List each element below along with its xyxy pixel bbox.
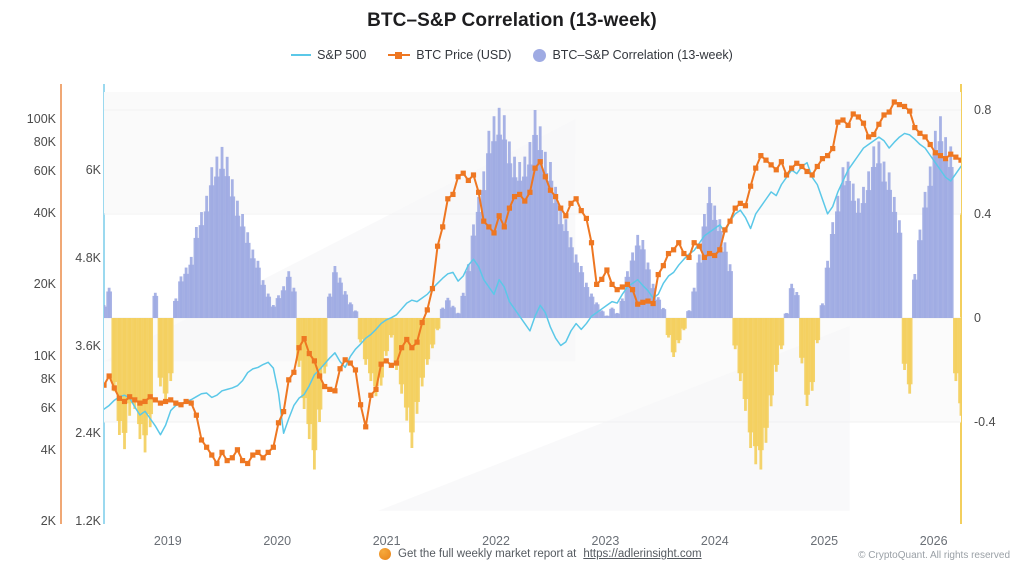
- btc-price-marker: [235, 447, 240, 452]
- btc-price-marker: [435, 244, 440, 249]
- btc-price-marker: [661, 263, 666, 268]
- btc-price-marker: [568, 201, 573, 206]
- legend-label-snp: S&P 500: [317, 48, 366, 62]
- btc-price-marker: [876, 122, 881, 127]
- correlation-bar: [797, 295, 800, 318]
- btc-price-marker: [820, 156, 825, 161]
- btc-price-marker: [835, 120, 840, 125]
- btc-price-marker: [420, 320, 425, 325]
- btc-price-marker: [589, 240, 594, 245]
- snp-tick-label: 3.6K: [75, 339, 101, 353]
- btc-price-marker: [225, 458, 230, 463]
- correlation-bar: [684, 318, 687, 329]
- btc-price-marker: [846, 123, 851, 128]
- btc-price-marker: [343, 357, 348, 362]
- btc-price-marker: [671, 247, 676, 252]
- btc-tick-label: 4K: [41, 443, 56, 457]
- btc-price-marker: [368, 393, 373, 398]
- btc-price-marker: [917, 131, 922, 136]
- correlation-bar: [899, 233, 902, 318]
- promo-link[interactable]: https://adlerinsight.com: [583, 548, 701, 560]
- btc-price-marker: [163, 399, 168, 404]
- btc-price-marker: [871, 132, 876, 137]
- btc-price-marker: [266, 450, 271, 455]
- btc-price-marker: [615, 287, 620, 292]
- x-axis-tick-label: 2020: [263, 534, 291, 548]
- btc-price-marker: [830, 146, 835, 151]
- cor-tick-label: -0.4: [974, 415, 996, 429]
- btc-price-marker: [953, 155, 958, 160]
- btc-price-marker: [789, 166, 794, 171]
- btc-price-marker: [922, 134, 927, 139]
- btc-price-marker: [948, 152, 953, 157]
- btc-price-marker: [276, 420, 281, 425]
- cor-tick-label: 0.8: [974, 103, 991, 117]
- btc-price-marker: [112, 385, 117, 390]
- btc-price-marker: [640, 300, 645, 305]
- snp-tick-label: 1.2K: [75, 514, 101, 528]
- btc-price-marker: [712, 253, 717, 258]
- btc-price-marker: [476, 190, 481, 195]
- btc-tick-label: 2K: [41, 514, 56, 528]
- btc-price-marker: [307, 351, 312, 356]
- btc-price-marker: [635, 302, 640, 307]
- btc-price-marker: [753, 166, 758, 171]
- snp-axis-ticks: 6K4.8K3.6K2.4K1.2K: [63, 0, 101, 576]
- correlation-bar: [294, 291, 297, 318]
- btc-price-marker: [127, 394, 132, 399]
- correlation-bar: [951, 167, 954, 318]
- btc-price-marker: [240, 458, 245, 463]
- x-axis-tick-label: 2021: [373, 534, 401, 548]
- btc-price-marker: [522, 198, 527, 203]
- btc-price-marker: [209, 452, 214, 457]
- btc-price-marker: [481, 219, 486, 224]
- cor-tick-label: 0: [974, 311, 981, 325]
- btc-price-marker: [799, 164, 804, 169]
- btc-price-marker: [230, 455, 235, 460]
- btc-tick-label: 80K: [34, 135, 56, 149]
- btc-price-marker: [604, 267, 609, 272]
- btc-price-marker: [656, 272, 661, 277]
- btc-price-marker: [666, 251, 671, 256]
- btc-price-marker: [389, 363, 394, 368]
- btc-price-marker: [810, 172, 815, 177]
- btc-price-marker: [943, 156, 948, 161]
- btc-price-marker: [815, 164, 820, 169]
- btc-price-marker: [148, 394, 153, 399]
- btc-price-marker: [184, 399, 189, 404]
- btc-price-marker: [748, 184, 753, 189]
- legend-item-snp[interactable]: S&P 500: [291, 48, 366, 62]
- btc-price-marker: [722, 227, 727, 232]
- btc-tick-label: 8K: [41, 372, 56, 386]
- x-axis-tick-label: 2023: [592, 534, 620, 548]
- btc-price-marker: [117, 396, 122, 401]
- btc-price-marker: [558, 206, 563, 211]
- btc-price-marker: [466, 178, 471, 183]
- btc-price-marker: [337, 366, 342, 371]
- line-square-marker-icon: [388, 50, 410, 60]
- promo-text: Get the full weekly market report at htt…: [379, 548, 702, 560]
- btc-price-marker: [399, 345, 404, 350]
- btc-price-marker: [738, 201, 743, 206]
- x-axis-tick-label: 2024: [701, 534, 729, 548]
- btc-price-marker: [461, 171, 466, 176]
- btc-price-marker: [379, 362, 384, 367]
- chart-container: BTC–S&P Correlation (13-week) S&P 500 BT…: [0, 0, 1024, 576]
- x-axis-tick-label: 2019: [154, 534, 182, 548]
- btc-price-marker: [204, 445, 209, 450]
- btc-price-marker: [168, 397, 173, 402]
- legend-label-correlation: BTC–S&P Correlation (13-week): [552, 48, 732, 62]
- chart-svg: [104, 84, 961, 524]
- btc-price-marker: [584, 216, 589, 221]
- btc-price-marker: [194, 413, 199, 418]
- correlation-bar: [150, 318, 153, 414]
- btc-price-marker: [425, 307, 430, 312]
- btc-price-marker: [938, 153, 943, 158]
- btc-price-marker: [507, 206, 512, 211]
- btc-price-marker: [302, 336, 307, 341]
- btc-price-marker: [122, 399, 127, 404]
- correlation-bar: [355, 311, 358, 318]
- btc-price-marker: [430, 286, 435, 291]
- correlation-bar: [663, 309, 666, 318]
- x-axis-tick-label: 2022: [482, 534, 510, 548]
- btc-price-marker: [676, 240, 681, 245]
- btc-price-marker: [281, 409, 286, 414]
- legend-label-btc: BTC Price (USD): [416, 48, 511, 62]
- btc-price-marker: [189, 400, 194, 405]
- btc-price-marker: [512, 194, 517, 199]
- btc-price-marker: [861, 121, 866, 126]
- btc-price-marker: [553, 194, 558, 199]
- correlation-bar: [438, 318, 441, 329]
- snp-tick-label: 2.4K: [75, 426, 101, 440]
- btc-price-marker: [296, 345, 301, 350]
- btc-price-marker: [178, 402, 183, 407]
- btc-tick-label: 10K: [34, 349, 56, 363]
- btc-price-marker: [579, 208, 584, 213]
- btc-price-marker: [471, 172, 476, 177]
- correlation-bar: [730, 271, 733, 318]
- btc-price-marker: [702, 255, 707, 260]
- btc-price-marker: [840, 117, 845, 122]
- btc-axis-ticks: 100K80K60K40K20K10K8K6K4K2K: [0, 0, 56, 576]
- btc-price-marker: [219, 450, 224, 455]
- btc-tick-label: 100K: [27, 112, 56, 126]
- btc-price-marker: [599, 277, 604, 282]
- legend-item-btc[interactable]: BTC Price (USD): [388, 48, 511, 62]
- btc-price-marker: [958, 158, 961, 163]
- btc-price-marker: [733, 206, 738, 211]
- circle-marker-icon: [533, 49, 546, 62]
- correlation-axis-ticks: 0.80.40-0.4: [968, 0, 1024, 576]
- x-axis-tick-label: 2025: [810, 534, 838, 548]
- btc-price-marker: [563, 213, 568, 218]
- btc-price-marker: [394, 360, 399, 365]
- btc-price-marker: [353, 367, 358, 372]
- btc-price-marker: [414, 340, 419, 345]
- chart-footer: Get the full weekly market report at htt…: [0, 548, 1024, 568]
- snp-tick-label: 4.8K: [75, 251, 101, 265]
- btc-price-marker: [104, 383, 107, 388]
- btc-price-marker: [409, 345, 414, 350]
- btc-price-marker: [933, 150, 938, 155]
- btc-price-marker: [543, 174, 548, 179]
- btc-price-marker: [445, 196, 450, 201]
- btc-price-marker: [137, 400, 142, 405]
- btc-price-marker: [692, 240, 697, 245]
- btc-price-marker: [825, 153, 830, 158]
- btc-price-marker: [158, 400, 163, 405]
- btc-tick-label: 40K: [34, 206, 56, 220]
- btc-price-marker: [625, 282, 630, 287]
- orange-circle-icon: [379, 548, 391, 560]
- correlation-bar: [171, 318, 174, 373]
- btc-price-marker: [538, 159, 543, 164]
- btc-price-marker: [912, 125, 917, 130]
- btc-price-marker: [897, 102, 902, 107]
- btc-price-marker: [312, 358, 317, 363]
- btc-price-marker: [650, 301, 655, 306]
- btc-price-marker: [322, 384, 327, 389]
- btc-price-marker: [856, 114, 861, 119]
- btc-price-marker: [727, 219, 732, 224]
- promo-prefix: Get the full weekly market report at: [398, 548, 576, 560]
- correlation-bar: [910, 318, 913, 384]
- btc-price-marker: [527, 190, 532, 195]
- btc-price-marker: [363, 424, 368, 429]
- btc-price-marker: [532, 166, 537, 171]
- btc-price-marker: [763, 158, 768, 163]
- btc-price-marker: [450, 192, 455, 197]
- btc-price-marker: [774, 167, 779, 172]
- btc-price-marker: [907, 108, 912, 113]
- btc-price-marker: [153, 397, 158, 402]
- btc-price-marker: [630, 287, 635, 292]
- btc-axis-spine: [60, 84, 62, 524]
- btc-price-marker: [707, 251, 712, 256]
- correlation-bar: [109, 291, 112, 318]
- btc-price-marker: [548, 188, 553, 193]
- btc-price-marker: [804, 169, 809, 174]
- btc-price-marker: [620, 284, 625, 289]
- btc-price-marker: [851, 111, 856, 116]
- btc-price-marker: [645, 298, 650, 303]
- correlation-bar: [817, 318, 820, 340]
- btc-price-marker: [332, 388, 337, 393]
- btc-price-marker: [404, 337, 409, 342]
- btc-price-marker: [173, 400, 178, 405]
- plot-area[interactable]: [104, 84, 961, 524]
- btc-price-marker: [794, 161, 799, 166]
- btc-price-marker: [373, 387, 378, 392]
- btc-price-marker: [327, 387, 332, 392]
- btc-price-marker: [142, 399, 147, 404]
- btc-price-marker: [609, 282, 614, 287]
- btc-price-marker: [271, 445, 276, 450]
- cor-tick-label: 0.4: [974, 207, 991, 221]
- btc-price-marker: [317, 373, 322, 378]
- btc-price-marker: [250, 452, 255, 457]
- btc-price-marker: [348, 360, 353, 365]
- x-axis-tick-label: 2026: [920, 534, 948, 548]
- btc-price-marker: [132, 397, 137, 402]
- btc-price-marker: [497, 213, 502, 218]
- btc-tick-label: 6K: [41, 401, 56, 415]
- btc-price-marker: [574, 196, 579, 201]
- btc-price-marker: [887, 109, 892, 114]
- btc-price-marker: [260, 455, 265, 460]
- btc-price-marker: [866, 134, 871, 139]
- btc-price-marker: [928, 142, 933, 147]
- btc-price-marker: [358, 402, 363, 407]
- btc-price-marker: [199, 437, 204, 442]
- btc-price-marker: [291, 370, 296, 375]
- btc-price-marker: [455, 174, 460, 179]
- correlation-bar: [781, 318, 784, 345]
- btc-price-marker: [486, 224, 491, 229]
- btc-price-marker: [686, 255, 691, 260]
- btc-price-marker: [681, 251, 686, 256]
- btc-price-marker: [491, 230, 496, 235]
- btc-tick-label: 60K: [34, 164, 56, 178]
- btc-price-marker: [697, 244, 702, 249]
- btc-tick-label: 20K: [34, 277, 56, 291]
- btc-price-marker: [784, 172, 789, 177]
- btc-price-marker: [881, 112, 886, 117]
- correlation-bar: [960, 318, 961, 416]
- btc-price-marker: [384, 358, 389, 363]
- btc-price-marker: [594, 282, 599, 287]
- btc-price-marker: [769, 162, 774, 167]
- btc-price-marker: [440, 224, 445, 229]
- btc-price-marker: [286, 377, 291, 382]
- snp-tick-label: 6K: [86, 163, 101, 177]
- legend-item-correlation[interactable]: BTC–S&P Correlation (13-week): [533, 48, 732, 62]
- btc-price-marker: [245, 461, 250, 466]
- btc-price-marker: [779, 159, 784, 164]
- btc-price-marker: [107, 373, 112, 378]
- chart-legend: S&P 500 BTC Price (USD) BTC–S&P Correlat…: [0, 48, 1024, 62]
- btc-price-marker: [214, 461, 219, 466]
- btc-price-marker: [255, 450, 260, 455]
- btc-price-marker: [892, 99, 897, 104]
- btc-price-marker: [758, 153, 763, 158]
- btc-price-marker: [902, 104, 907, 109]
- correlation-bar: [325, 318, 328, 367]
- correlation-bar: [155, 296, 158, 318]
- chart-title: BTC–S&P Correlation (13-week): [0, 10, 1024, 32]
- copyright-text: © CryptoQuant. All rights reserved: [858, 550, 1010, 561]
- btc-price-marker: [717, 247, 722, 252]
- btc-price-marker: [502, 224, 507, 229]
- btc-price-marker: [517, 192, 522, 197]
- btc-price-marker: [743, 203, 748, 208]
- line-marker-icon: [291, 54, 311, 56]
